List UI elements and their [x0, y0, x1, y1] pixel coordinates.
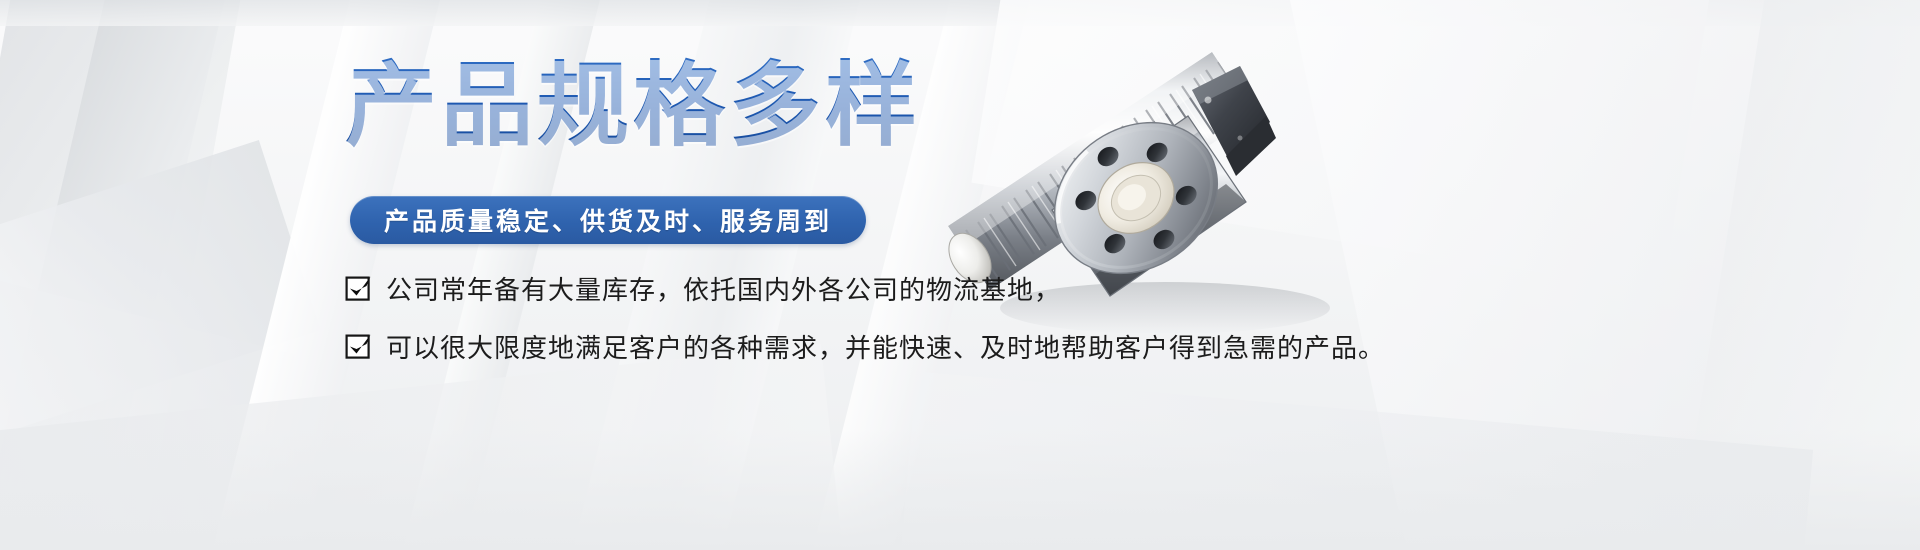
- banner-headline: 产品规格多样: [345, 55, 921, 158]
- banner-slogan-text: 产品质量稳定、供货及时、服务周到: [384, 202, 832, 238]
- banner-content: 产品规格多样 产品质量稳定、供货及时、服务周到 公司常年备有大量库存，依托国内外…: [0, 0, 1920, 550]
- promo-banner: 产品规格多样 产品质量稳定、供货及时、服务周到 公司常年备有大量库存，依托国内外…: [0, 0, 1920, 550]
- feature-bullet-2: 可以很大限度地满足客户的各种需求，并能快速、及时地帮助客户得到急需的产品。: [345, 328, 1385, 365]
- feature-bullet-1-text: 公司常年备有大量库存，依托国内外各公司的物流基地，: [386, 270, 1061, 307]
- feature-bullet-2-text: 可以很大限度地满足客户的各种需求，并能快速、及时地帮助客户得到急需的产品。: [386, 328, 1385, 365]
- banner-slogan-pill: 产品质量稳定、供货及时、服务周到: [350, 196, 866, 244]
- checkbox-checked-icon: [345, 333, 372, 360]
- feature-bullet-1: 公司常年备有大量库存，依托国内外各公司的物流基地，: [345, 270, 1061, 307]
- checkbox-checked-icon: [345, 275, 372, 302]
